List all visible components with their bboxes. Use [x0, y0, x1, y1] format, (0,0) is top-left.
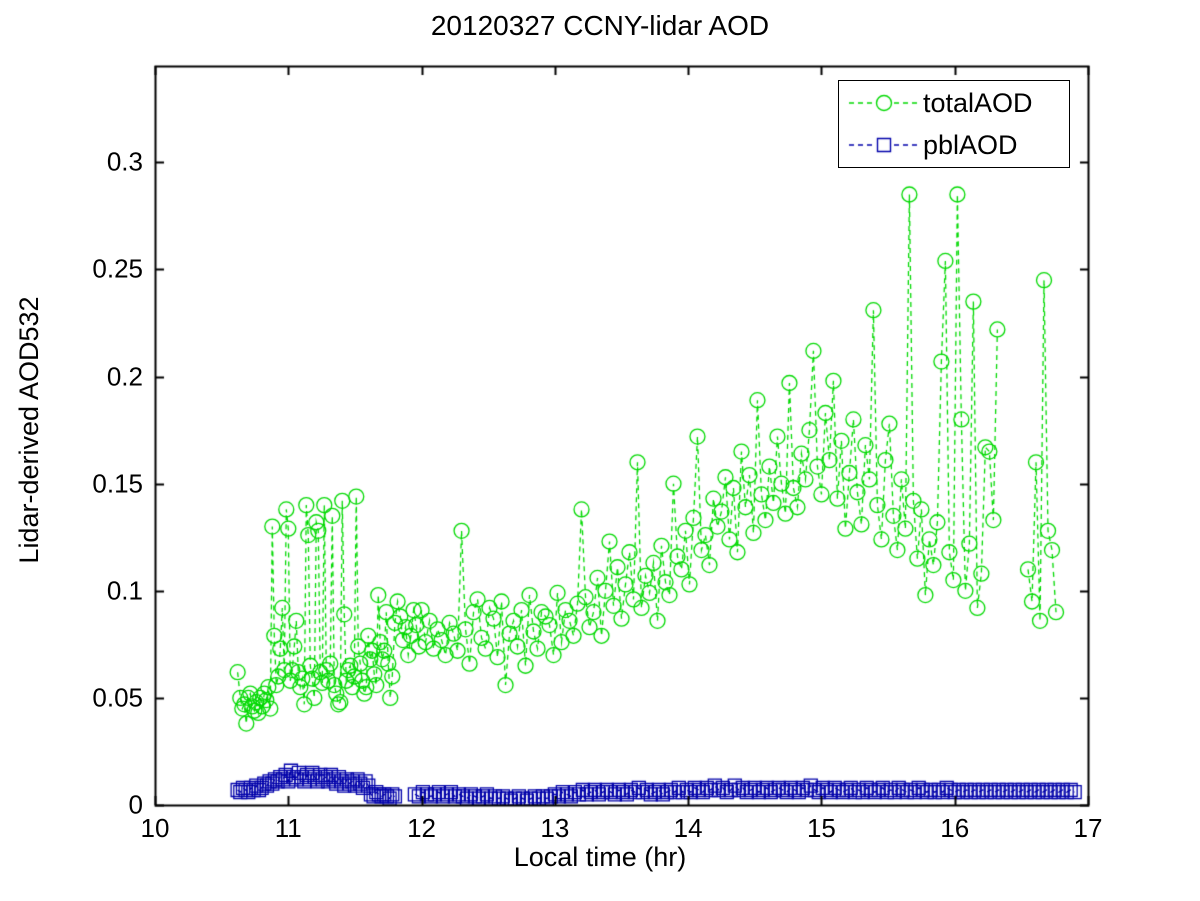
x-tick-label: 15	[807, 813, 836, 844]
legend-entry-pblaod: pblAOD	[839, 123, 1071, 167]
x-tick-label: 10	[141, 813, 170, 844]
y-tick-label: 0.2	[107, 361, 143, 392]
x-tick-label: 13	[540, 813, 569, 844]
y-tick-label: 0.1	[107, 575, 143, 606]
legend-marker-square-icon	[847, 130, 921, 160]
x-tick-label: 17	[1074, 813, 1103, 844]
x-tick-label: 11	[275, 813, 302, 844]
y-tick-label: 0.05	[92, 682, 143, 713]
x-tick-label: 14	[674, 813, 703, 844]
legend-label-totalaod: totalAOD	[923, 88, 1033, 119]
legend-circle-glyph-icon	[847, 88, 921, 118]
x-tick-label: 16	[940, 813, 969, 844]
x-tick-label: 12	[407, 813, 436, 844]
chart-legend: totalAOD pblAOD	[838, 80, 1070, 168]
legend-entry-totalaod: totalAOD	[839, 81, 1071, 125]
legend-label-pblaod: pblAOD	[923, 130, 1018, 161]
y-axis-label: Lidar-derived AOD532	[14, 60, 54, 800]
y-tick-label: 0.25	[92, 254, 143, 285]
x-axis-label: Local time (hr)	[0, 842, 1200, 873]
legend-square-glyph-icon	[847, 130, 921, 160]
legend-marker-circle-icon	[847, 88, 921, 118]
chart-title: 20120327 CCNY-lidar AOD	[0, 10, 1200, 42]
y-tick-label: 0.15	[92, 468, 143, 499]
y-tick-label: 0.3	[107, 147, 143, 178]
figure-container: 20120327 CCNY-lidar AOD Lidar-derived AO…	[0, 0, 1200, 901]
